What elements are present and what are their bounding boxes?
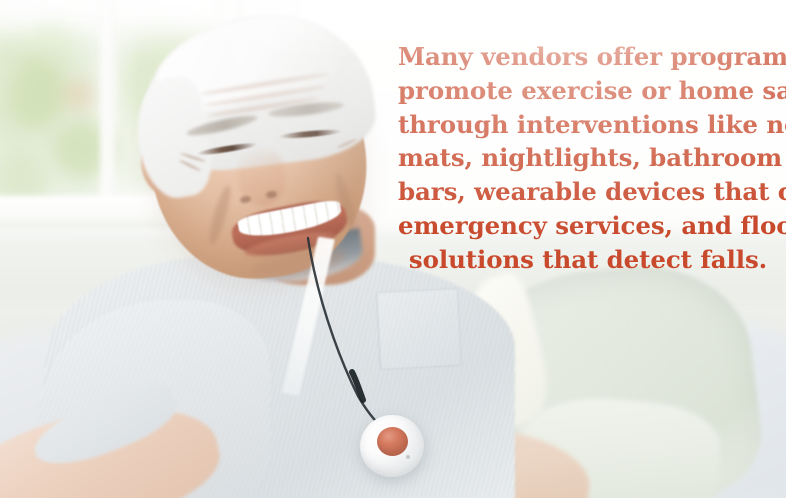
- promo-image-canvas: Many vendors offer programs to promote e…: [0, 0, 786, 498]
- pendant-alert-button: [377, 427, 408, 456]
- quote-line-1: Many vendors offer programs to: [398, 40, 778, 74]
- quote-line-4: mats, nightlights, bathroom grab: [398, 141, 778, 175]
- quote-line-7: solutions that detect falls.: [398, 243, 778, 277]
- pendant-led-indicator: [406, 455, 410, 459]
- shirt-chest-pocket: [376, 288, 462, 370]
- quote-line-2: promote exercise or home safety: [398, 74, 778, 108]
- quote-line-3: through interventions like non-slip: [398, 108, 778, 142]
- overlay-quote-block: Many vendors offer programs to promote e…: [398, 40, 778, 277]
- quote-line-5: bars, wearable devices that can alert: [398, 175, 778, 209]
- quote-line-6: emergency services, and flooring: [398, 209, 778, 243]
